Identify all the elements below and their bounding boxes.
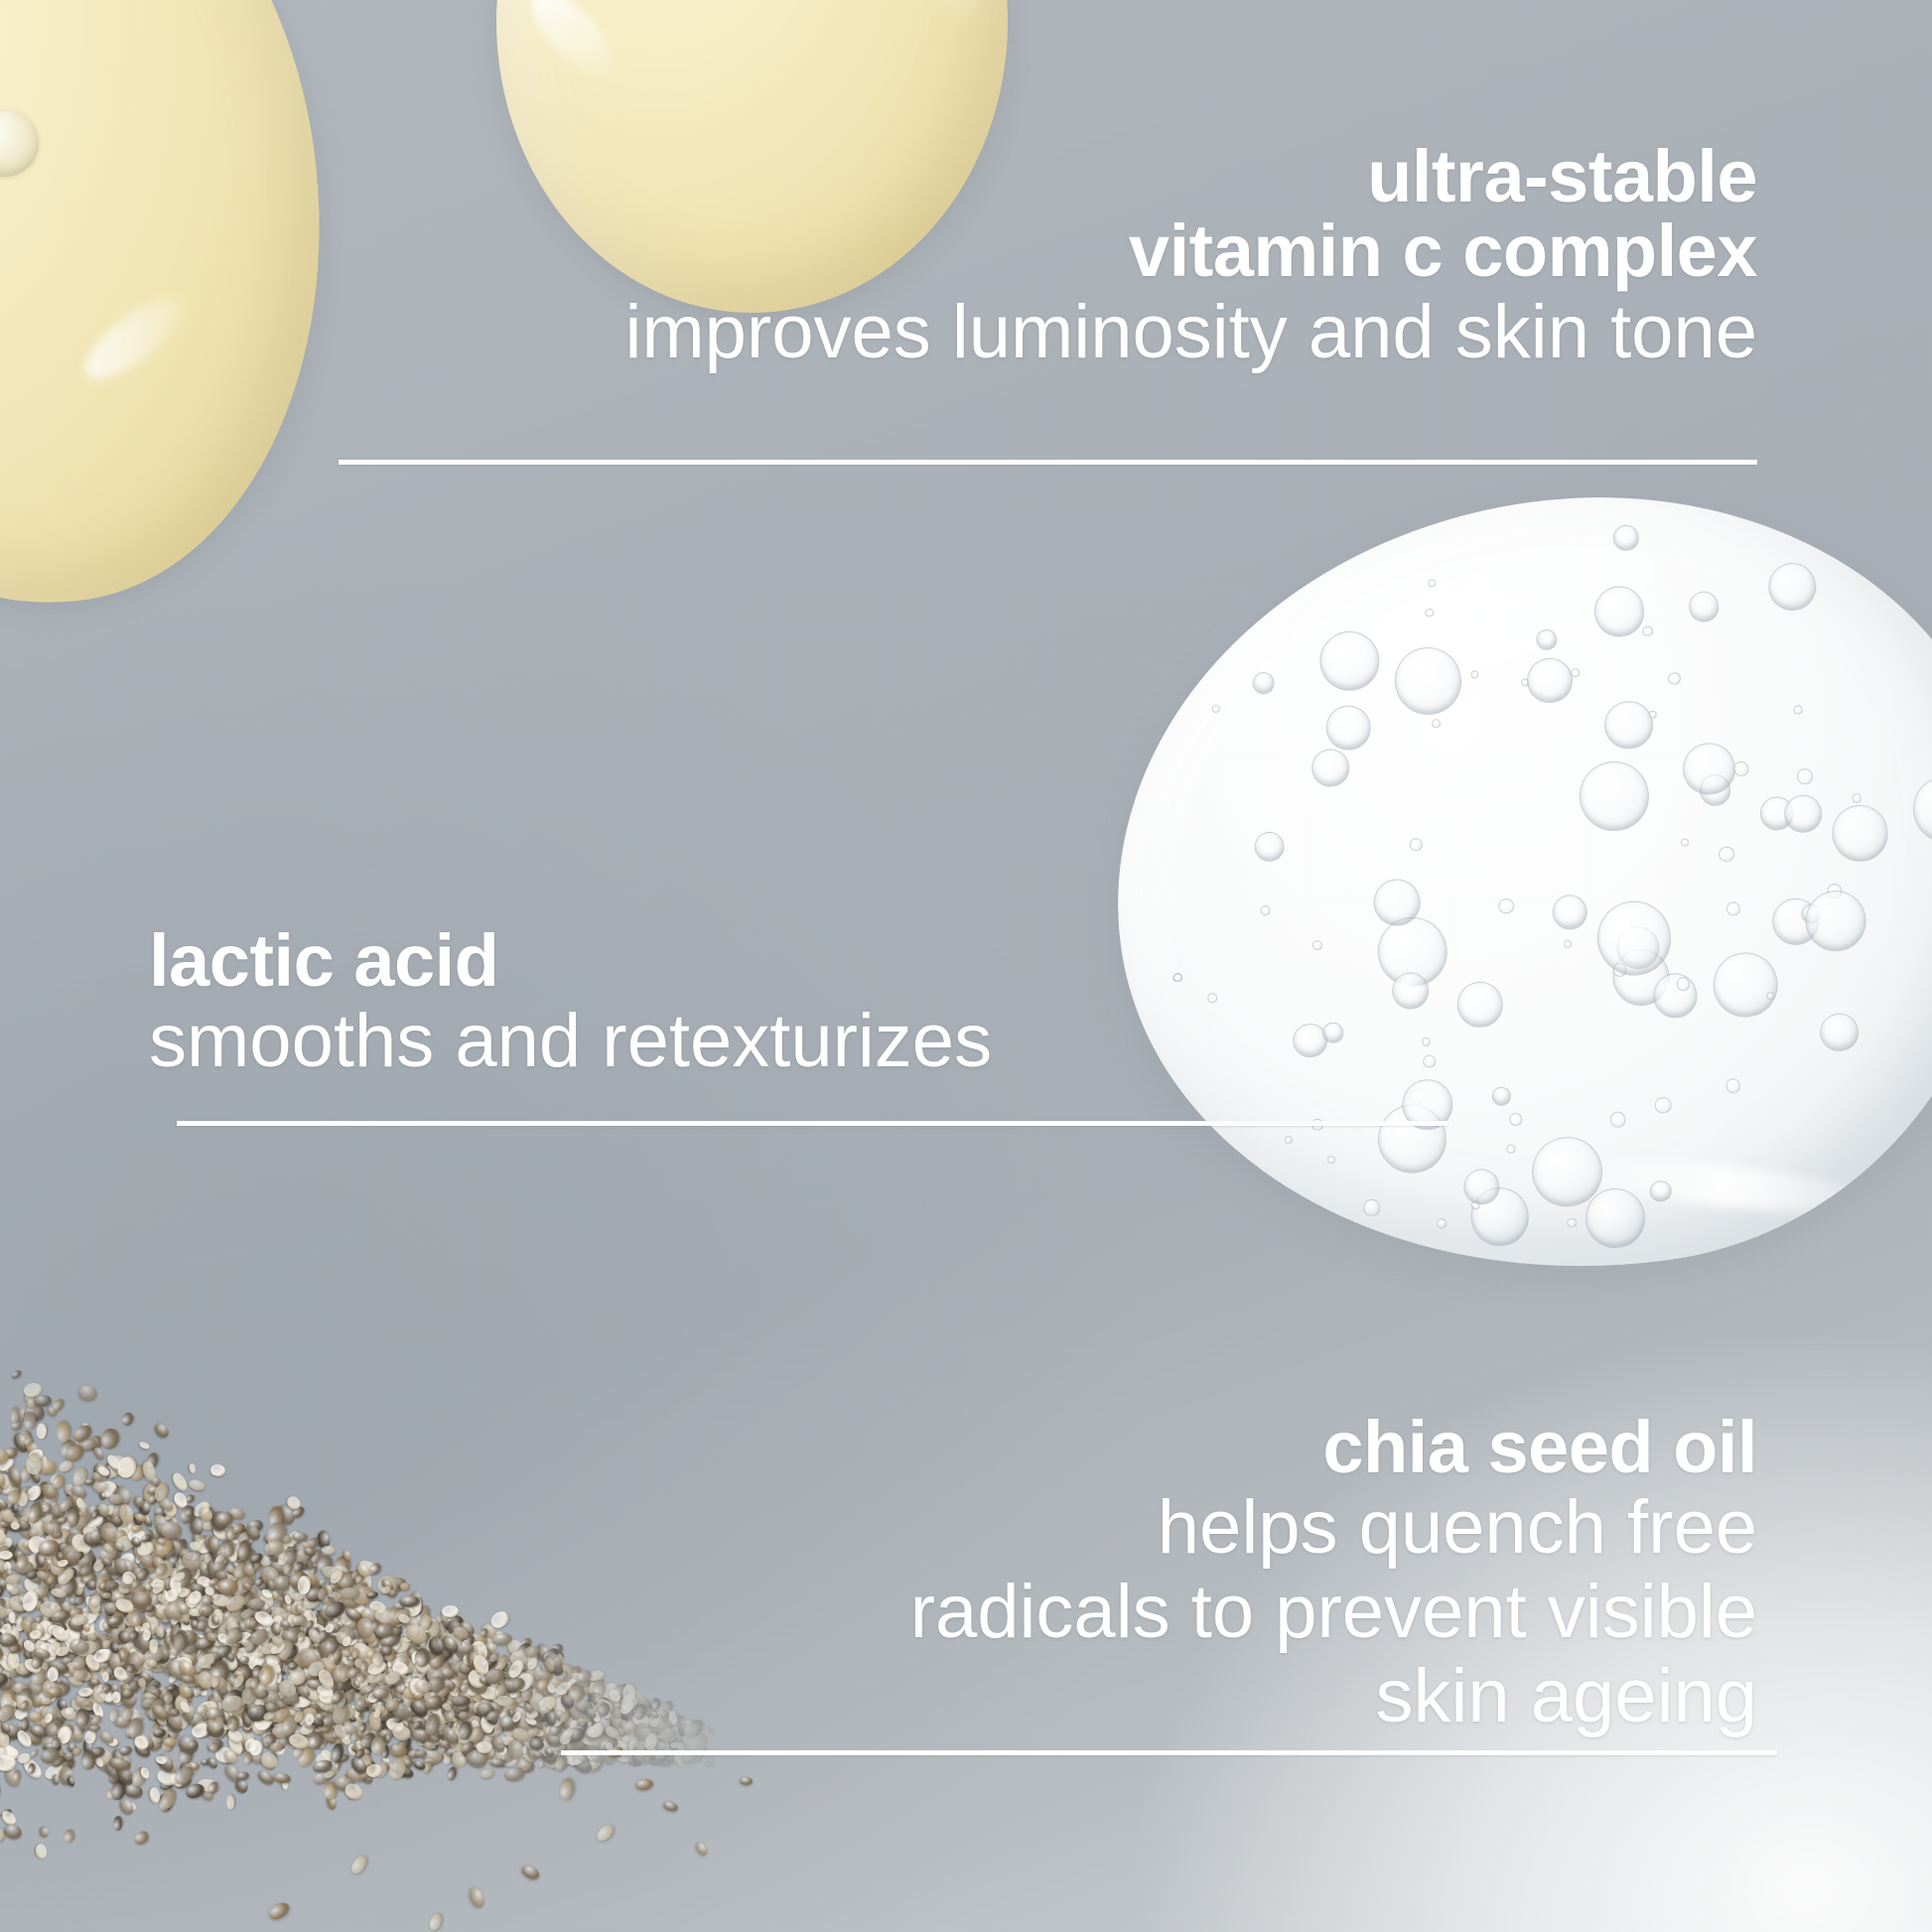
chia-seed bbox=[118, 1797, 137, 1818]
gel-bubble-icon bbox=[1680, 838, 1690, 848]
gel-bubble-icon bbox=[1732, 760, 1749, 777]
chia-seed bbox=[138, 1441, 151, 1450]
chia-seed bbox=[170, 1470, 190, 1493]
lactic-acid-subtitle: smooths and retexturizes bbox=[149, 1002, 1241, 1082]
chia-seed bbox=[476, 1740, 492, 1753]
gel-bubble-icon bbox=[1497, 897, 1515, 915]
gel-bubble-icon bbox=[1491, 1086, 1512, 1107]
gel-bubble-icon bbox=[1422, 1054, 1437, 1069]
gel-bubble-icon bbox=[1470, 670, 1479, 679]
chia-seed bbox=[226, 1795, 235, 1810]
chia-seed bbox=[63, 1829, 74, 1843]
gel-bubble-icon bbox=[1576, 758, 1654, 836]
gel-bubble-icon bbox=[1601, 698, 1656, 753]
chia-seed bbox=[40, 1826, 50, 1839]
divider-rule-lactic-acid bbox=[177, 1121, 1448, 1126]
vitamin-c-title-line-1: ultra-stable bbox=[506, 139, 1757, 213]
vitamin-c-title-line-2: vitamin c complex bbox=[506, 213, 1757, 288]
gel-bubble-icon bbox=[1793, 705, 1802, 714]
benefit-block-chia-seed-oil: chia seed oil helps quench free radicals… bbox=[566, 1410, 1757, 1736]
chia-seed bbox=[0, 1551, 12, 1560]
chia-seed bbox=[34, 1395, 52, 1407]
chia-seed bbox=[366, 1590, 379, 1598]
chia-seed bbox=[10, 1407, 20, 1423]
gel-bubble-icon bbox=[1454, 979, 1506, 1031]
gel-bubble-icon bbox=[1725, 1078, 1741, 1095]
chia-seed bbox=[255, 1768, 276, 1787]
chia-seed bbox=[102, 1671, 109, 1682]
gel-bubble-icon bbox=[1765, 560, 1819, 614]
chia-seed bbox=[112, 1815, 123, 1831]
gel-bubble-icon bbox=[1284, 1135, 1293, 1144]
oil-highlight-left bbox=[518, 0, 625, 88]
benefit-block-lactic-acid: lactic acid smooths and retexturizes bbox=[149, 923, 1241, 1082]
chia-seed bbox=[7, 1652, 19, 1670]
chia-seed-loose bbox=[740, 1776, 754, 1786]
gel-bubble-icon bbox=[1310, 747, 1351, 788]
chia-seed bbox=[47, 1666, 59, 1681]
gel-bubble-icon bbox=[1508, 1113, 1522, 1127]
chia-seed bbox=[52, 1774, 60, 1785]
divider-rule-chia-seed-oil bbox=[561, 1750, 1777, 1755]
yellow-oil-droplet-large bbox=[0, 0, 358, 635]
gel-bubble-icon bbox=[1802, 888, 1870, 956]
benefit-block-vitamin-c: ultra-stable vitamin c complex improves … bbox=[506, 139, 1757, 372]
gel-bubble-icon bbox=[1211, 704, 1220, 713]
vitamin-c-subtitle: improves luminosity and skin tone bbox=[506, 293, 1757, 373]
chia-seed bbox=[89, 1725, 100, 1732]
gel-bubble-icon bbox=[1818, 1011, 1862, 1054]
gel-bubble-icon bbox=[1251, 671, 1276, 696]
gel-bubble-icon bbox=[1909, 772, 1932, 847]
chia-seed-oil-subtitle-line-3: skin ageing bbox=[566, 1657, 1757, 1737]
chia-seed bbox=[29, 1747, 39, 1758]
gel-bubble-icon bbox=[1431, 719, 1441, 729]
chia-seed bbox=[164, 1737, 177, 1747]
gel-bubble-icon bbox=[1564, 939, 1573, 948]
chia-seed bbox=[111, 1691, 121, 1704]
chia-seed bbox=[97, 1425, 123, 1451]
chia-seed bbox=[399, 1595, 420, 1607]
gel-bubble-icon bbox=[1253, 830, 1287, 864]
oil-highlight-right bbox=[926, 0, 1002, 27]
chia-seed bbox=[131, 1608, 141, 1625]
ingredient-benefits-panel: ultra-stable vitamin c complex improves … bbox=[0, 0, 1932, 1932]
gel-bubble-icon bbox=[1362, 1198, 1381, 1217]
gel-bubble-icon bbox=[1654, 1096, 1672, 1114]
clear-gel-droplet bbox=[1067, 443, 1932, 1329]
gel-bubble-icon bbox=[1719, 846, 1735, 863]
gel-bubble-icon bbox=[1322, 702, 1373, 753]
gel-bubble-icon bbox=[1259, 904, 1271, 916]
chia-seed bbox=[189, 1463, 196, 1473]
gel-bubble-icon bbox=[1852, 793, 1863, 804]
chia-seed-oil-title: chia seed oil bbox=[566, 1410, 1757, 1484]
oil-bubble-icon bbox=[0, 106, 42, 181]
gel-bubble-icon bbox=[1327, 1156, 1336, 1165]
chia-seed bbox=[239, 1655, 249, 1663]
gel-bubble-icon bbox=[1311, 940, 1322, 951]
chia-seed bbox=[132, 1829, 151, 1847]
chia-seed bbox=[11, 1504, 18, 1514]
chia-seed bbox=[480, 1768, 495, 1781]
chia-seed bbox=[36, 1422, 48, 1439]
chia-seed bbox=[188, 1477, 207, 1491]
gel-bubble-icon bbox=[1667, 671, 1682, 686]
gel-bubble-icon bbox=[1782, 793, 1824, 835]
gel-bubble-icon bbox=[1796, 767, 1814, 785]
gel-bubble-icon bbox=[1422, 1037, 1432, 1047]
gel-bubble-icon bbox=[1506, 1145, 1516, 1155]
gel-bubble-icon bbox=[1409, 838, 1423, 852]
chia-seed bbox=[119, 1745, 133, 1756]
chia-seed bbox=[41, 1698, 52, 1705]
chia-seed bbox=[75, 1708, 90, 1726]
chia-seed-oil-subtitle-line-1: helps quench free bbox=[566, 1488, 1757, 1569]
chia-seed bbox=[119, 1411, 134, 1427]
gel-bubble-icon bbox=[1687, 590, 1721, 623]
divider-rule-vitamin-c bbox=[339, 460, 1757, 465]
chia-seed bbox=[442, 1605, 459, 1617]
chia-seed bbox=[400, 1582, 411, 1590]
chia-seed-oil-subtitle-line-2: radicals to prevent visible bbox=[566, 1573, 1757, 1653]
chia-seed bbox=[236, 1771, 250, 1781]
lactic-acid-title: lactic acid bbox=[149, 923, 1241, 998]
gel-bubble-icon bbox=[1525, 655, 1576, 706]
chia-seed bbox=[273, 1771, 293, 1784]
gel-bubble-icon bbox=[1567, 1217, 1578, 1228]
gel-bubble-icon bbox=[1828, 801, 1891, 865]
chia-seed bbox=[209, 1463, 226, 1478]
gel-bubble-icon bbox=[1648, 710, 1658, 720]
gel-bubble-icon bbox=[1641, 625, 1653, 637]
gel-bubble-icon bbox=[1571, 667, 1582, 678]
chia-seed bbox=[458, 1711, 468, 1719]
gel-bubble-icon bbox=[1725, 901, 1741, 917]
gel-bubble-icon bbox=[1550, 893, 1589, 932]
gel-bubble-icon bbox=[1609, 1111, 1626, 1128]
gel-bubble-icon bbox=[1710, 948, 1782, 1021]
chia-seed bbox=[36, 1843, 49, 1859]
chia-seed bbox=[152, 1421, 171, 1441]
chia-seed bbox=[2, 1822, 24, 1842]
gel-bubble-icon bbox=[1437, 1218, 1448, 1229]
chia-seed bbox=[147, 1660, 157, 1667]
chia-seed bbox=[10, 1369, 22, 1380]
chia-seed bbox=[24, 1412, 36, 1430]
chia-seed bbox=[67, 1776, 76, 1789]
oil-highlight bbox=[73, 285, 195, 393]
chia-seed bbox=[248, 1597, 265, 1608]
chia-seed bbox=[76, 1382, 99, 1403]
